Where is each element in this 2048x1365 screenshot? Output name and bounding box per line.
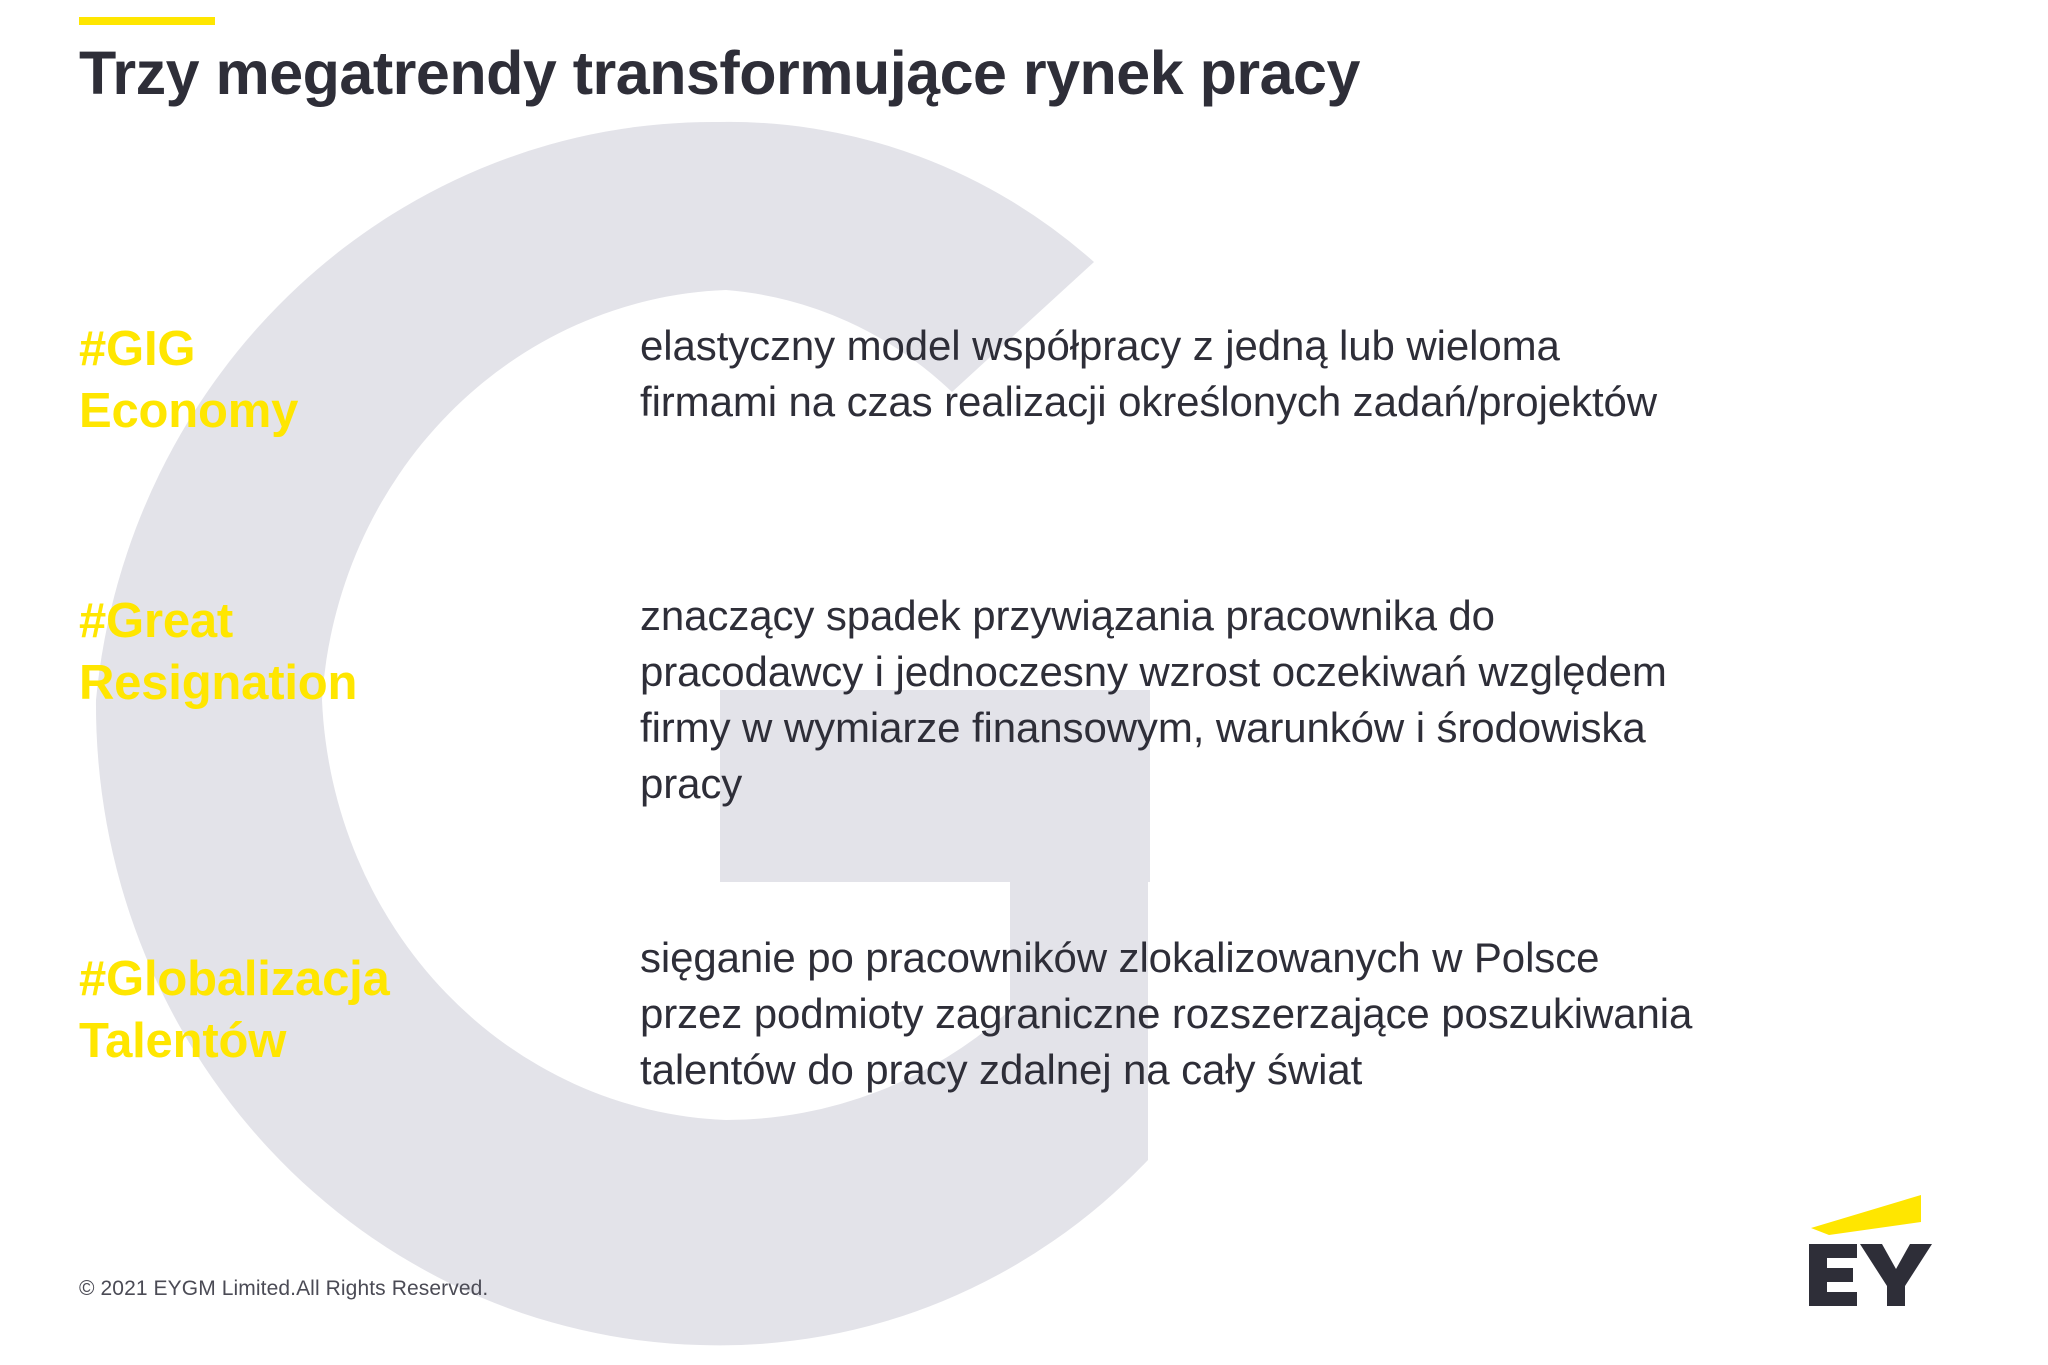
trends-list: #GIG Economy elastyczny model współpracy… [0,0,2048,1365]
trend-description-great-resignation: znaczący spadek przywiązania pracownika … [640,588,2010,811]
trend-description-line: firmy w wymiarze finansowym, warunków i … [640,700,2010,756]
trend-label-line: Talentów [79,1010,639,1072]
trend-description-line: firmami na czas realizacji określonych z… [640,374,2010,430]
trend-description-line: talentów do pracy zdalnej na cały świat [640,1042,2010,1098]
trend-label-line: #Globalizacja [79,948,639,1010]
copyright-notice: © 2021 EYGM Limited.All Rights Reserved. [79,1277,488,1301]
trend-description-line: pracy [640,756,2010,812]
trend-label-great-resignation: #Great Resignation [79,590,639,714]
ey-beam-icon [1811,1195,1921,1235]
trend-label-line: Economy [79,380,639,442]
trend-label-line: #Great [79,590,639,652]
trend-description-line: pracodawcy i jednoczesny wzrost oczekiwa… [640,644,2010,700]
ey-logo [1803,1180,1993,1310]
trend-description-line: sięganie po pracowników zlokalizowanych … [640,930,2010,986]
trend-description-line: elastyczny model współpracy z jedną lub … [640,318,2010,374]
trend-label-line: #GIG [79,318,639,380]
trend-label-globalizacja-talentow: #Globalizacja Talentów [79,948,639,1072]
ey-wordmark-icon [1809,1244,1932,1306]
trend-description-line: przez podmioty zagraniczne rozszerzające… [640,986,2010,1042]
trend-description-line: znaczący spadek przywiązania pracownika … [640,588,2010,644]
page-title: Trzy megatrendy transformujące rynek pra… [79,38,1360,108]
slide-canvas: Trzy megatrendy transformujące rynek pra… [0,0,2048,1365]
accent-rule [79,17,215,25]
trend-description-gig: elastyczny model współpracy z jedną lub … [640,318,2010,430]
trend-label-line: Resignation [79,652,639,714]
trend-description-globalizacja-talentow: sięganie po pracowników zlokalizowanych … [640,930,2010,1098]
trend-label-gig: #GIG Economy [79,318,639,442]
